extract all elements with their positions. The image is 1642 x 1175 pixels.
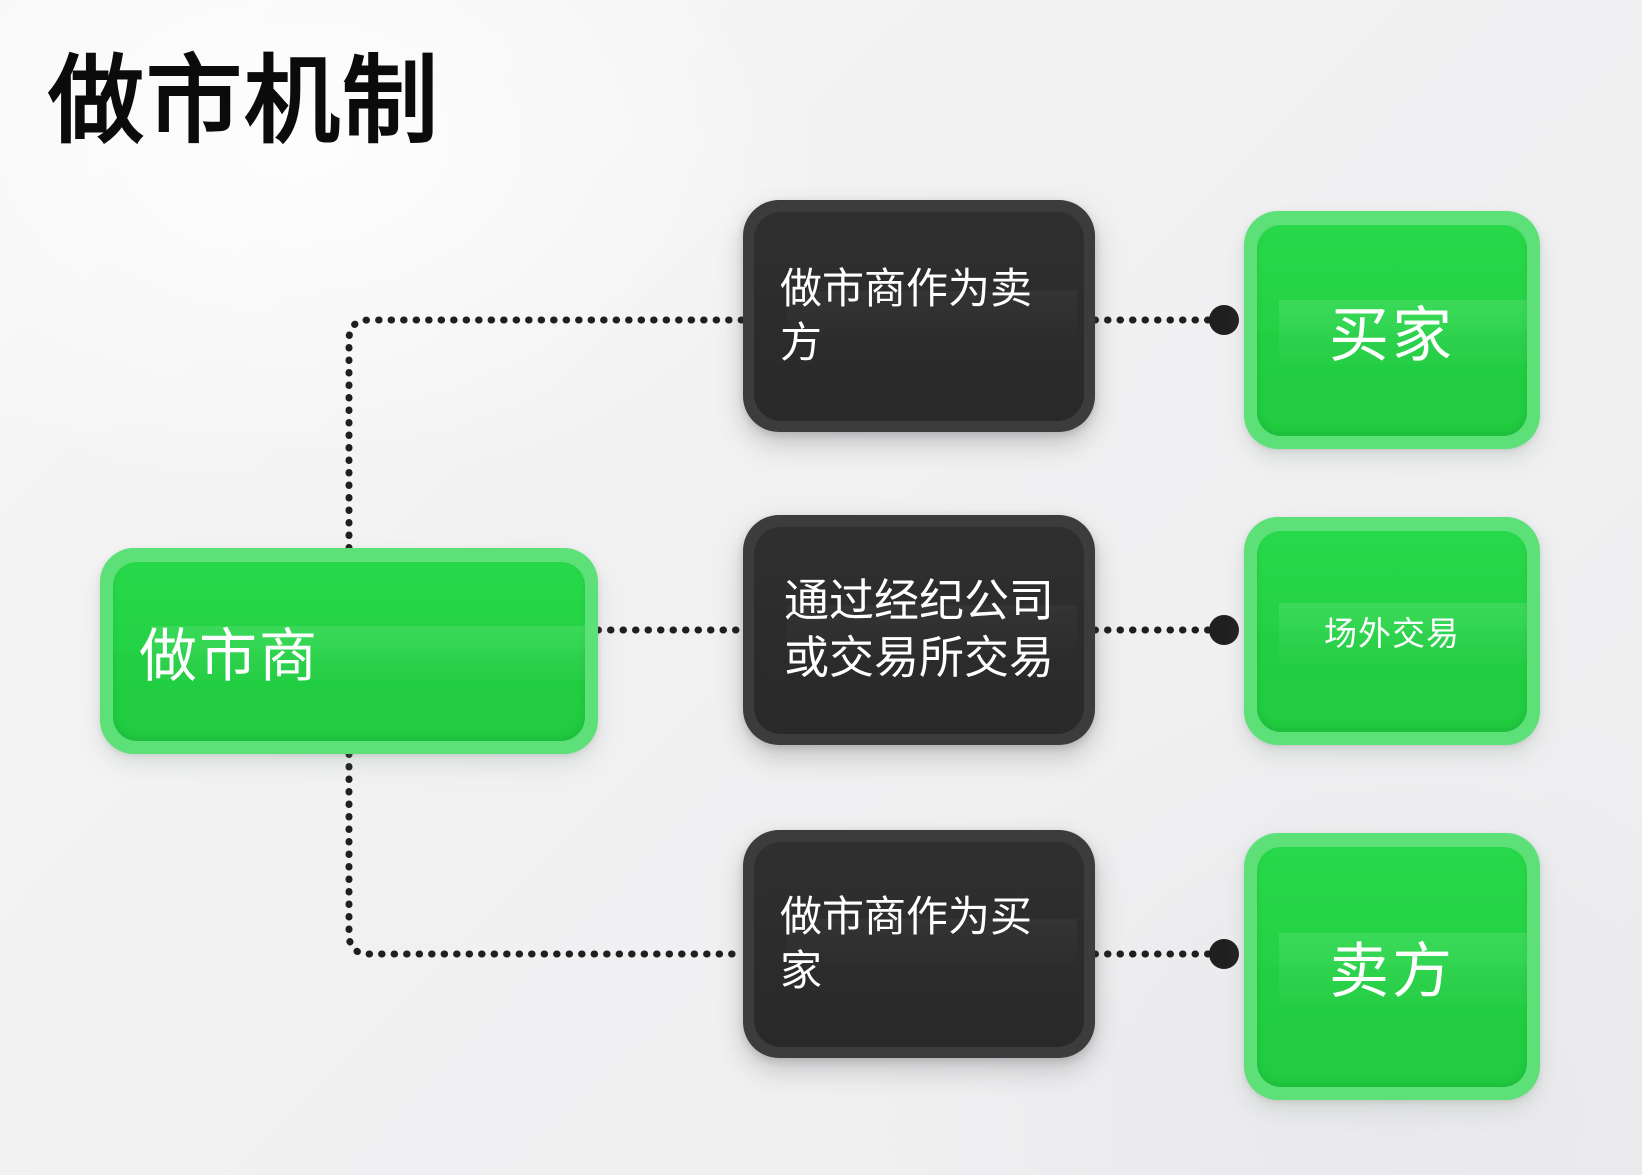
node-buyer-surface: 买家 bbox=[1257, 224, 1527, 436]
node-buyer[interactable]: 买家 bbox=[1244, 211, 1540, 449]
node-via-broker-label: 通过经纪公司或交易所交易 bbox=[754, 573, 1084, 686]
node-buyer-label: 买家 bbox=[1257, 287, 1527, 374]
diagram-canvas: 做市机制 做市商 做市商作为卖方 bbox=[0, 0, 1642, 1175]
node-otc[interactable]: 场外交易 bbox=[1244, 517, 1540, 745]
node-seller-surface: 卖方 bbox=[1257, 846, 1527, 1087]
edge-maker-to-buyer-box bbox=[349, 754, 743, 954]
node-via-broker[interactable]: 通过经纪公司或交易所交易 bbox=[743, 515, 1095, 745]
node-via-broker-surface: 通过经纪公司或交易所交易 bbox=[754, 526, 1084, 734]
node-market-maker[interactable]: 做市商 bbox=[100, 548, 598, 754]
node-mm-as-seller[interactable]: 做市商作为卖方 bbox=[743, 200, 1095, 432]
page-title: 做市机制 bbox=[48, 52, 440, 153]
node-mm-as-seller-surface: 做市商作为卖方 bbox=[754, 211, 1084, 421]
node-seller-label: 卖方 bbox=[1257, 923, 1527, 1010]
node-otc-surface: 场外交易 bbox=[1257, 530, 1527, 732]
edge-maker-to-seller-box bbox=[349, 320, 743, 548]
node-mm-as-seller-label: 做市商作为卖方 bbox=[754, 262, 1084, 370]
node-otc-label: 场外交易 bbox=[1257, 607, 1527, 655]
node-seller[interactable]: 卖方 bbox=[1244, 833, 1540, 1100]
endpoint-dot-seller bbox=[1209, 939, 1239, 969]
node-mm-as-buyer[interactable]: 做市商作为买家 bbox=[743, 830, 1095, 1058]
node-mm-as-buyer-surface: 做市商作为买家 bbox=[754, 841, 1084, 1047]
node-market-maker-label: 做市商 bbox=[113, 609, 585, 693]
endpoint-dot-otc bbox=[1209, 615, 1239, 645]
node-mm-as-buyer-label: 做市商作为买家 bbox=[754, 890, 1084, 998]
node-market-maker-surface: 做市商 bbox=[113, 561, 585, 741]
endpoint-dot-buyer bbox=[1209, 305, 1239, 335]
